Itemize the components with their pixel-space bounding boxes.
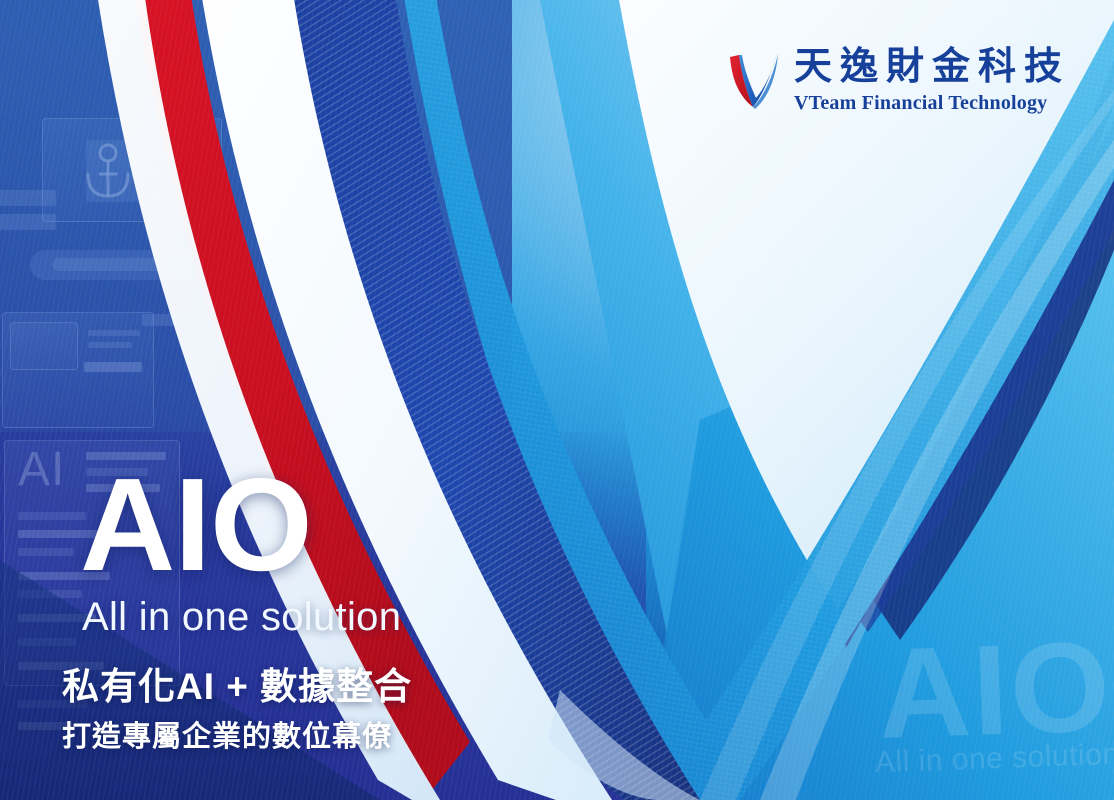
page-title: AIO (80, 470, 616, 581)
page-subtitle: All in one solution (82, 597, 616, 637)
tagline-primary: 私有化AI + 數據整合 (62, 667, 616, 708)
brand-name-en: VTeam Financial Technology (794, 93, 1047, 113)
brand-name-cn: 天逸財金科技 (794, 48, 1070, 86)
aio-brand-cover: AI (0, 0, 1114, 800)
tagline-secondary: 打造專屬企業的數位幕僚 (62, 722, 616, 754)
brand-lockup[interactable]: 天逸財金科技 VTeam Financial Technology (726, 48, 1070, 113)
headline-block: AIO All in one solution 私有化AI + 數據整合 打造專… (56, 470, 616, 753)
vteam-swoosh-logo-icon (726, 51, 782, 111)
